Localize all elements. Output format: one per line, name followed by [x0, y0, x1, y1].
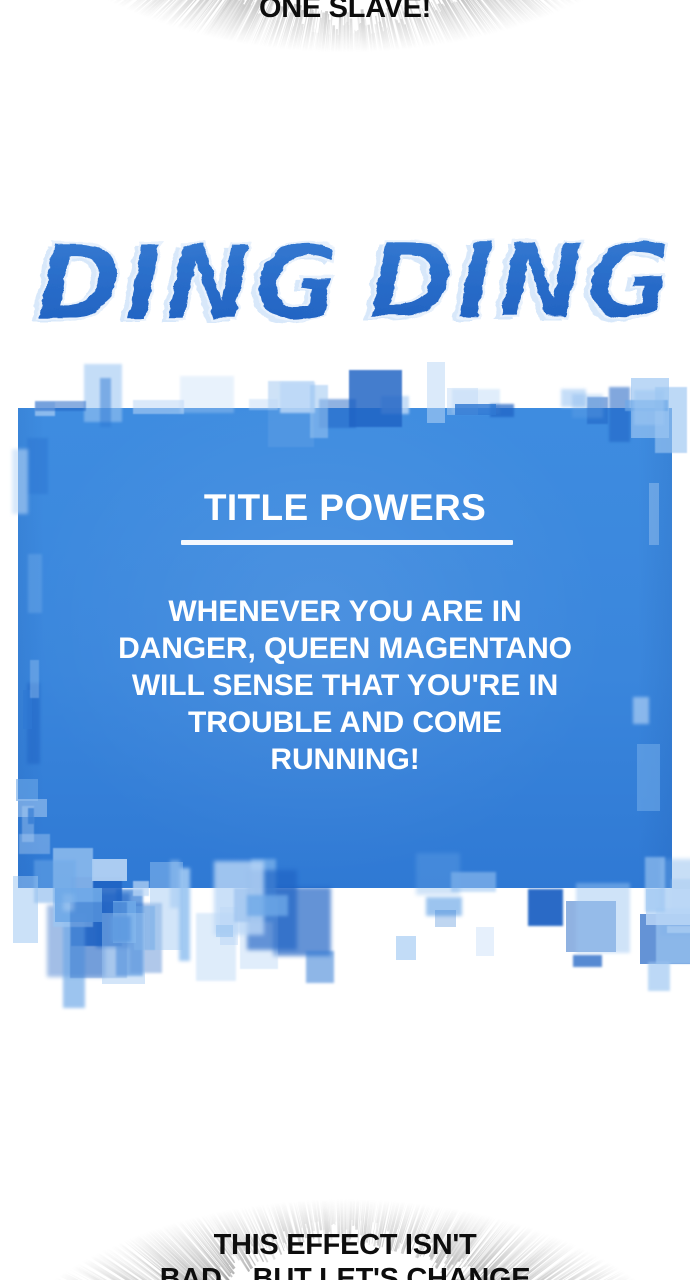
window-body-description: WHENEVER YOU ARE IN DANGER, QUEEN MAGENT… [40, 593, 650, 778]
glitch-block [47, 905, 105, 976]
glitch-block [566, 901, 616, 952]
glitch-block [113, 901, 137, 943]
glitch-block [671, 879, 690, 928]
glitch-block [273, 887, 331, 957]
glitch-block [640, 914, 690, 964]
heading-underline-rule [181, 540, 513, 545]
sound-effect-ding-word-2: DING [368, 222, 668, 342]
glitch-block [646, 889, 690, 924]
glitch-block [306, 951, 334, 983]
glitch-block [435, 910, 457, 926]
sound-effect-ding-echo-2: DING [362, 223, 667, 345]
glitch-block [111, 916, 131, 942]
glitch-block [216, 925, 233, 937]
dialogue-text-top: ONE SLAVE! [0, 0, 690, 25]
window-content: TITLE POWERS WHENEVER YOU ARE IN DANGER,… [18, 408, 672, 888]
dialogue-text-bottom: THIS EFFECT ISN'T BAD... BUT LET'S CHANG… [0, 1228, 690, 1280]
comic-page: ONE SLAVE! TITLE POWERS WHENEVER YOU ARE… [0, 0, 690, 1280]
glitch-block [196, 913, 237, 981]
sound-effect-ding-echo-1: DING [30, 225, 335, 347]
glitch-block [134, 906, 155, 950]
window-heading-title-powers: TITLE POWERS [18, 486, 672, 530]
glitch-block [234, 888, 252, 922]
glitch-block [63, 894, 74, 912]
glitch-block [667, 926, 690, 932]
glitch-block [648, 962, 670, 991]
glitch-block [70, 902, 127, 978]
glitch-block [240, 899, 278, 969]
glitch-block [96, 893, 130, 948]
glitch-block [656, 908, 690, 964]
glitch-block [576, 883, 631, 953]
sound-effect-ding-word-1: DING [36, 222, 341, 344]
glitch-block [63, 915, 85, 1008]
glitch-block [116, 889, 143, 976]
glitch-block [573, 955, 602, 967]
glitch-block [247, 895, 288, 916]
glitch-block [561, 389, 586, 408]
sound-effect-ding-ding: DING DING DING DING [22, 222, 668, 357]
glitch-block [130, 903, 162, 973]
glitch-block [528, 889, 563, 927]
system-notification-window: TITLE POWERS WHENEVER YOU ARE IN DANGER,… [18, 408, 672, 888]
glitch-block [476, 927, 494, 957]
glitch-block [55, 888, 102, 922]
glitch-block [426, 897, 462, 916]
glitch-block [220, 907, 237, 945]
glitch-block [396, 936, 416, 960]
glitch-block [102, 913, 145, 984]
